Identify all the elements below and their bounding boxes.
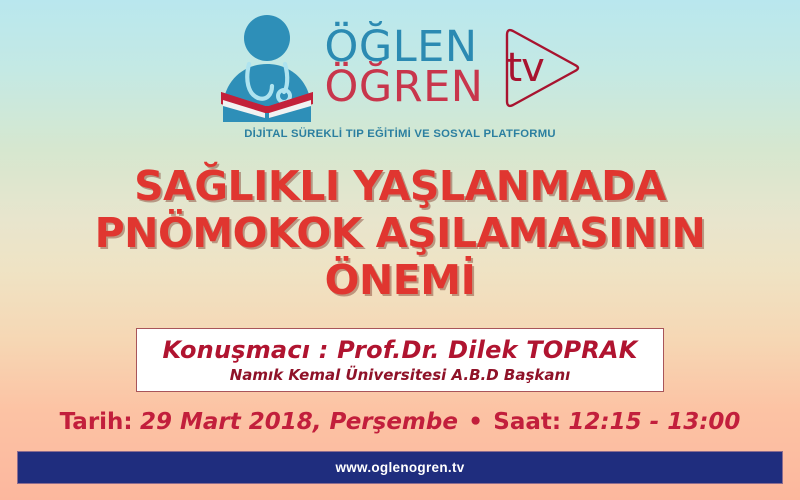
speaker-affiliation: Namık Kemal Üniversitesi A.B.D Başkanı bbox=[230, 366, 571, 384]
time-label: Saat: bbox=[493, 409, 561, 435]
website-url[interactable]: www.oglenogren.tv bbox=[335, 460, 464, 475]
brand-logo-block: ÖĞLEN ÖĞREN tv DİJİTAL SÜREKLİ TIP EĞİTİ… bbox=[0, 12, 800, 140]
footer-bar: www.oglenogren.tv bbox=[17, 451, 783, 484]
brand-wordmark: ÖĞLEN ÖĞREN bbox=[325, 28, 484, 107]
title-line-1: SAĞLIKLI YAŞLANMADA bbox=[0, 163, 800, 210]
tv-play-mark: tv bbox=[493, 23, 585, 113]
event-poster: ÖĞLEN ÖĞREN tv DİJİTAL SÜREKLİ TIP EĞİTİ… bbox=[0, 0, 800, 500]
speaker-name: Konuşmacı : Prof.Dr. Dilek TOPRAK bbox=[162, 336, 637, 364]
brand-tagline: DİJİTAL SÜREKLİ TIP EĞİTİMİ VE SOSYAL PL… bbox=[244, 128, 556, 140]
logo-row: ÖĞLEN ÖĞREN tv bbox=[215, 12, 586, 124]
speaker-info-box: Konuşmacı : Prof.Dr. Dilek TOPRAK Namık … bbox=[136, 328, 664, 392]
wordmark-line-ogren: ÖĞREN bbox=[325, 68, 484, 108]
time-value: 12:15 - 13:00 bbox=[568, 409, 740, 435]
tv-label: tv bbox=[506, 45, 543, 91]
poster-title: SAĞLIKLI YAŞLANMADA PNÖMOKOK AŞILAMASINI… bbox=[0, 163, 800, 304]
date-value: 29 Mart 2018, Perşembe bbox=[140, 409, 458, 435]
schedule-line: Tarih: 29 Mart 2018, Perşembe • Saat: 12… bbox=[0, 409, 800, 435]
doctor-with-stethoscope-and-book-icon bbox=[215, 14, 319, 122]
title-line-2: PNÖMOKOK AŞILAMASININ bbox=[0, 210, 800, 257]
title-line-3: ÖNEMİ bbox=[0, 257, 800, 304]
date-label: Tarih: bbox=[60, 409, 133, 435]
schedule-separator: • bbox=[465, 409, 486, 435]
